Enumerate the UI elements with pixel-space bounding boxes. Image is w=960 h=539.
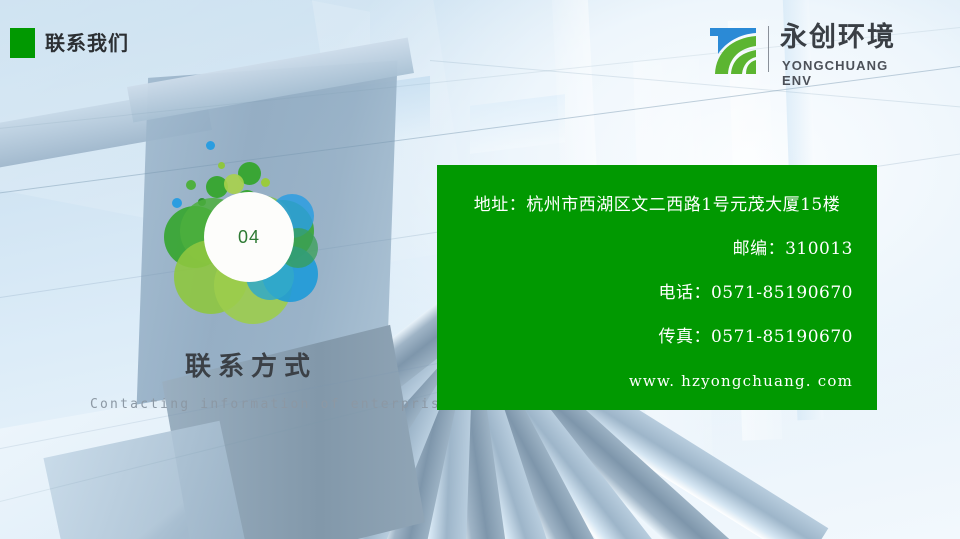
logo-name-cn: 永创环境: [780, 22, 896, 54]
company-logo: 永创环境 YONGCHUANG ENV: [706, 20, 921, 78]
badge-number-circle: 04: [204, 192, 294, 282]
decor-dot: [206, 141, 215, 150]
slide-contact-us: 联系我们 永创环境 YONGCHUANG ENV: [0, 0, 960, 539]
page-title: 联系我们: [45, 29, 129, 57]
section-title: 联系方式: [185, 350, 317, 384]
section-number-badge: 04: [158, 140, 353, 330]
decor-dot: [186, 180, 196, 190]
green-square-icon: [10, 28, 35, 58]
logo-name-en: YONGCHUANG ENV: [782, 58, 921, 88]
contact-line-fax: 传真：0571-85190670: [461, 327, 853, 348]
contact-line-address: 地址：杭州市西湖区文二西路1号元茂大厦15楼: [461, 195, 853, 216]
decor-dot: [218, 162, 225, 169]
logo-divider: [768, 26, 769, 72]
yongchuang-leaf-logo-icon: [706, 22, 760, 76]
contact-line-postcode: 邮编：310013: [461, 239, 853, 260]
contact-line-phone: 电话：0571-85190670: [461, 283, 853, 304]
decor-dot: [172, 198, 182, 208]
decor-dot: [261, 178, 270, 187]
badge-number: 04: [238, 227, 260, 248]
contact-line-website: www. hzyongchuang. com: [461, 371, 853, 392]
contact-info-panel: 地址：杭州市西湖区文二西路1号元茂大厦15楼 邮编：310013 电话：0571…: [437, 165, 877, 410]
section-subtitle: Contacting information of enterprise: [90, 396, 451, 414]
